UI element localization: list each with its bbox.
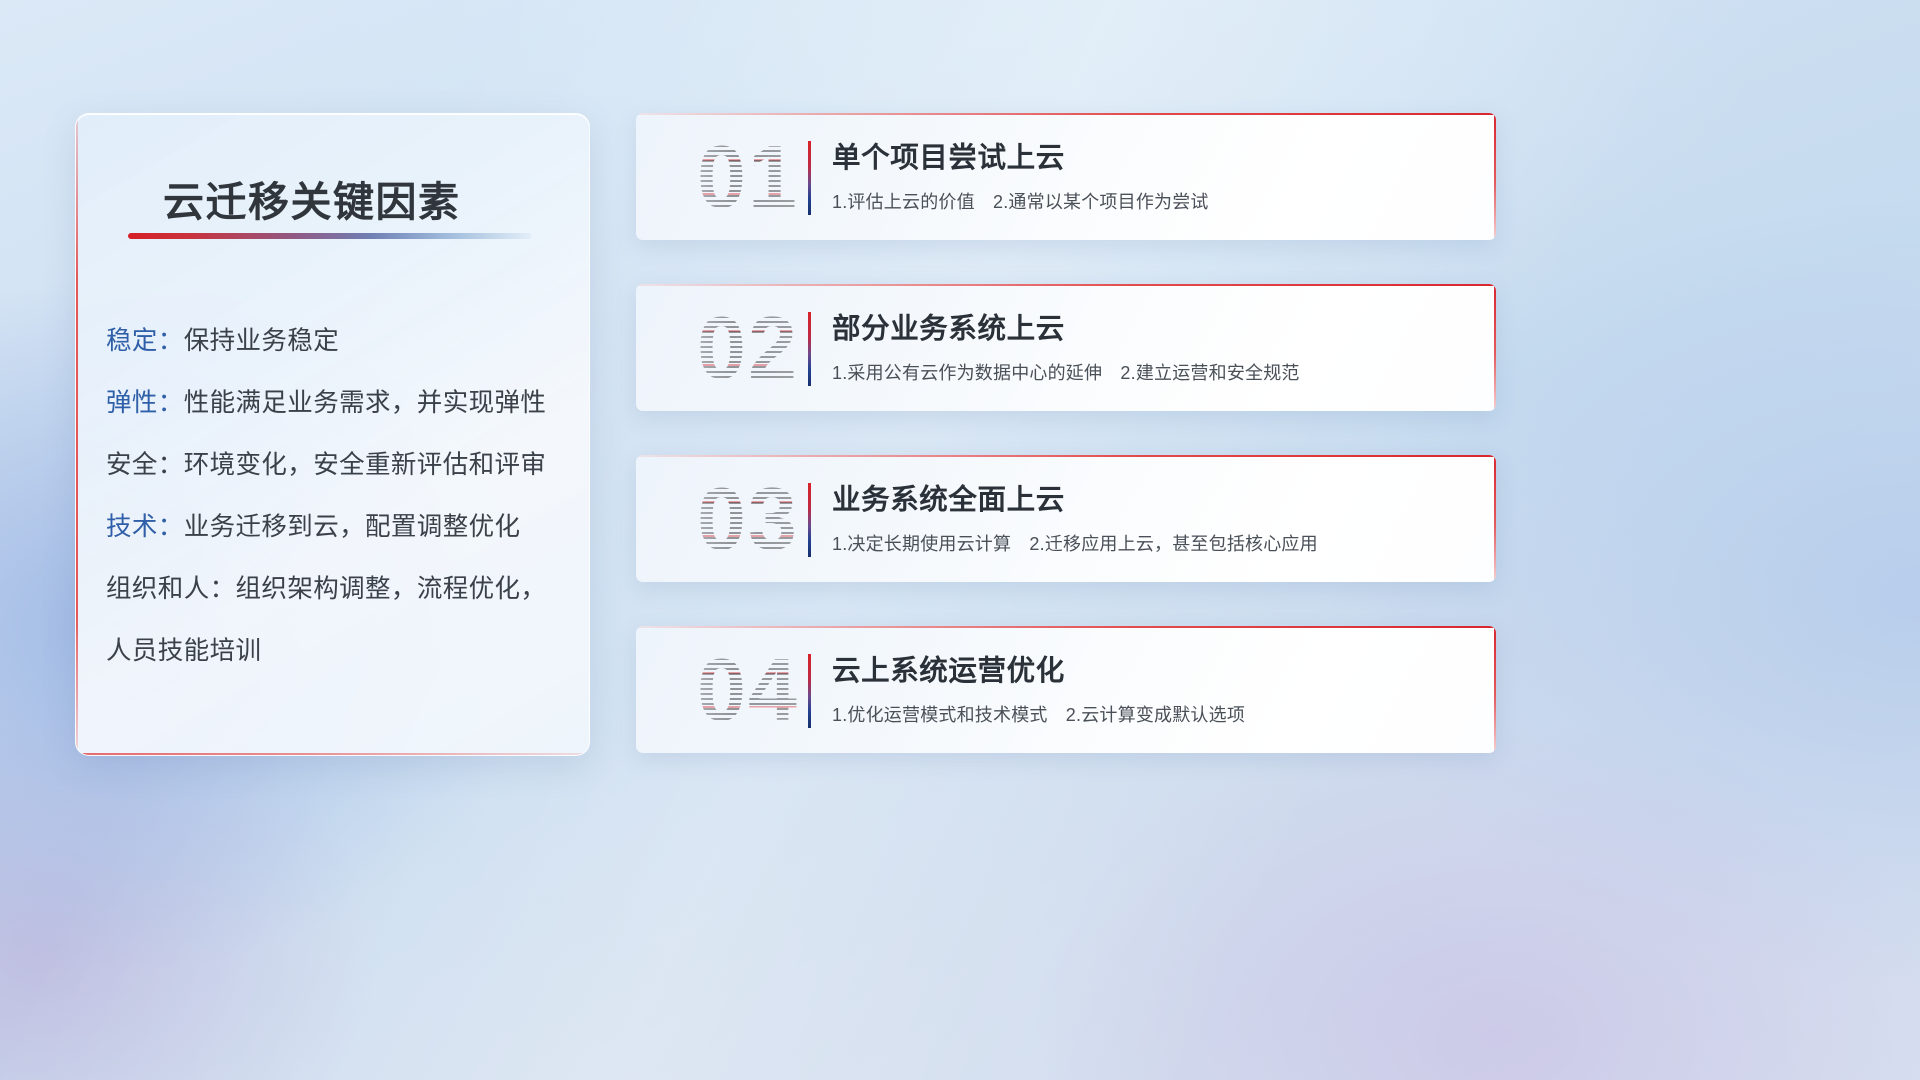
key-factor-label: 稳定： (106, 327, 184, 355)
key-factor-text: 保持业务稳定 (184, 327, 339, 355)
stage-divider-bar (808, 483, 811, 557)
stage-divider-bar (808, 312, 811, 386)
key-factor-line: 弹性：性能满足业务需求，并实现弹性 (106, 372, 571, 434)
stage-title: 单个项目尝试上云 (832, 135, 1065, 176)
stage-card[interactable]: 0404云上系统运营优化1.优化运营模式和技术模式 2.云计算变成默认选项 (636, 626, 1496, 753)
key-factor-line: 安全：环境变化，安全重新评估和评审 (106, 434, 571, 496)
key-factor-text: 业务迁移到云，配置调整优化 (184, 513, 521, 541)
stage-description: 1.采用公有云作为数据中心的延伸 2.建立运营和安全规范 (832, 359, 1300, 385)
stage-divider-bar (808, 141, 811, 215)
key-factor-label: 安全： (106, 451, 184, 479)
stage-description: 1.评估上云的价值 2.通常以某个项目作为尝试 (832, 188, 1209, 214)
key-factor-line: 组织和人：组织架构调整，流程优化， (106, 558, 571, 620)
key-factor-label: 组织和人： (106, 575, 236, 603)
stage-card[interactable]: 0101单个项目尝试上云1.评估上云的价值 2.通常以某个项目作为尝试 (636, 113, 1496, 240)
stage-number: 03 (668, 467, 828, 571)
stage-title: 部分业务系统上云 (832, 306, 1065, 347)
stage-card-list: 0101单个项目尝试上云1.评估上云的价值 2.通常以某个项目作为尝试0202部… (636, 113, 1496, 797)
key-factor-line: 技术：业务迁移到云，配置调整优化 (106, 496, 571, 558)
stage-title: 业务系统全面上云 (832, 477, 1065, 518)
key-factor-label: 技术： (106, 513, 184, 541)
stage-card[interactable]: 0303业务系统全面上云1.决定长期使用云计算 2.迁移应用上云，甚至包括核心应… (636, 455, 1496, 582)
key-factor-text: 环境变化，安全重新评估和评审 (184, 451, 547, 479)
title-underline-rule (128, 233, 532, 239)
key-factor-line: 稳定：保持业务稳定 (106, 310, 571, 372)
stage-description: 1.决定长期使用云计算 2.迁移应用上云，甚至包括核心应用 (832, 530, 1318, 556)
panel-title: 云迁移关键因素 (163, 168, 461, 228)
key-factors-panel: 云迁移关键因素 稳定：保持业务稳定弹性：性能满足业务需求，并实现弹性安全：环境变… (75, 113, 590, 756)
stage-number: 01 (668, 125, 828, 229)
stage-description: 1.优化运营模式和技术模式 2.云计算变成默认选项 (832, 701, 1245, 727)
stage-title: 云上系统运营优化 (832, 648, 1065, 689)
stage-number: 04 (668, 638, 828, 742)
stage-divider-bar (808, 654, 811, 728)
key-factors-list: 稳定：保持业务稳定弹性：性能满足业务需求，并实现弹性安全：环境变化，安全重新评估… (106, 310, 571, 682)
stage-number: 02 (668, 296, 828, 400)
stage-card[interactable]: 0202部分业务系统上云1.采用公有云作为数据中心的延伸 2.建立运营和安全规范 (636, 284, 1496, 411)
key-factor-line: 人员技能培训 (106, 620, 571, 682)
key-factor-text: 组织架构调整，流程优化， (236, 575, 547, 603)
key-factor-text: 性能满足业务需求，并实现弹性 (184, 389, 547, 417)
key-factor-text: 人员技能培训 (106, 637, 261, 665)
key-factor-label: 弹性： (106, 389, 184, 417)
